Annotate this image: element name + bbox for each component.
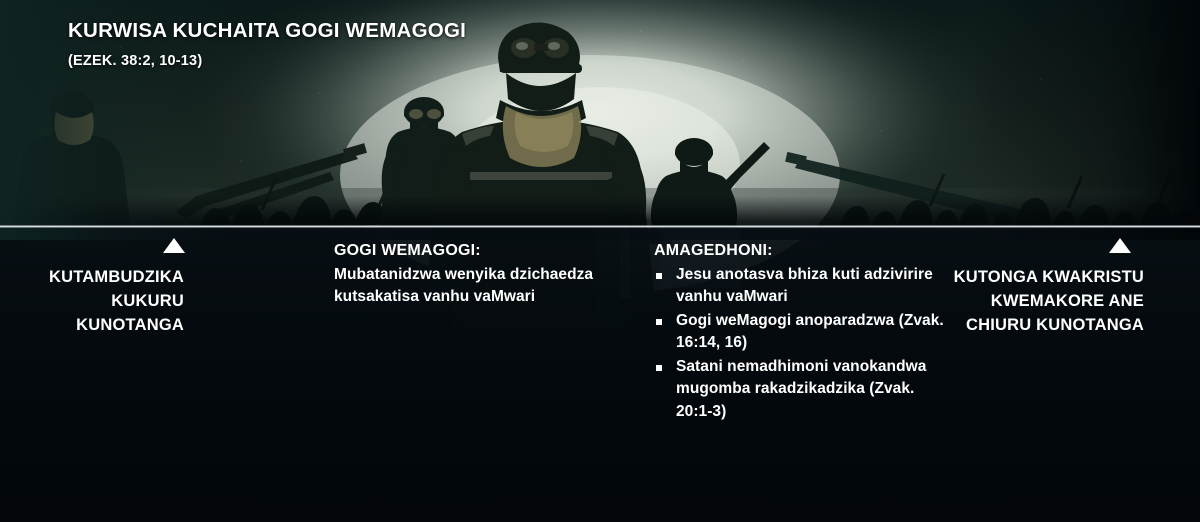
column-tribulation-line-3: KUNOTANGA: [12, 313, 184, 337]
column-gog-body: Mubatanidzwa wenyika dzichaedza kutsakat…: [334, 264, 604, 309]
infographic-panel: KURWISA KUCHAITA GOGI WEMAGOGI (EZEK. 38…: [0, 0, 1200, 522]
page-title: KURWISA KUCHAITA GOGI WEMAGOGI: [68, 17, 488, 44]
list-item-label: Jesu anotasva bhiza kuti adzivirire vanh…: [676, 266, 933, 306]
triangle-up-icon-left: [163, 238, 185, 253]
column-tribulation-line-1: KUTAMBUDZIKA: [12, 265, 184, 289]
column-reign-line-2: KWEMAKORE ANE: [900, 289, 1144, 313]
column-gog: GOGI WEMAGOGI: Mubatanidzwa wenyika dzic…: [334, 240, 604, 309]
square-bullet-icon: [656, 365, 662, 371]
column-reign-line-1: KUTONGA KWAKRISTU: [900, 265, 1144, 289]
square-bullet-icon: [656, 273, 662, 279]
column-reign-line-3: CHIURU KUNOTANGA: [900, 313, 1144, 337]
title-block: KURWISA KUCHAITA GOGI WEMAGOGI (EZEK. 38…: [68, 17, 488, 71]
column-reign: KUTONGA KWAKRISTU KWEMAKORE ANE CHIURU K…: [900, 265, 1144, 337]
triangle-up-icon-right: [1109, 238, 1131, 253]
scripture-reference: (EZEK. 38:2, 10-13): [68, 51, 488, 71]
column-tribulation: KUTAMBUDZIKA KUKURU KUNOTANGA: [12, 265, 184, 337]
list-item-label: Satani nemadhimoni vanokandwa mugomba ra…: [676, 358, 926, 420]
column-tribulation-line-2: KUKURU: [12, 289, 184, 313]
square-bullet-icon: [656, 319, 662, 325]
list-item: Satani nemadhimoni vanokandwa mugomba ra…: [654, 356, 954, 424]
column-armageddon-heading: AMAGEDHONI:: [654, 240, 954, 263]
column-gog-heading: GOGI WEMAGOGI:: [334, 240, 604, 263]
timeline-divider: [0, 225, 1200, 228]
